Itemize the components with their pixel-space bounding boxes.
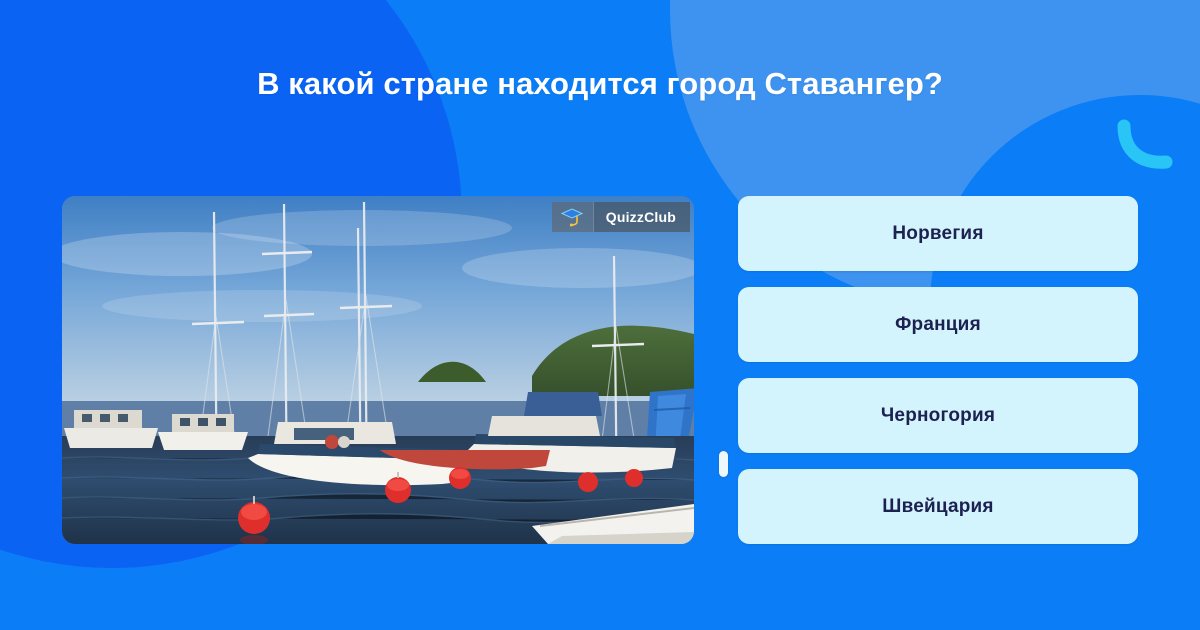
quizzclub-watermark: QuizzClub xyxy=(552,202,690,232)
question-image-card: QuizzClub xyxy=(62,196,694,544)
answer-options-list: Норвегия Франция Черногория Швейцария xyxy=(730,196,1138,544)
cyan-arc-icon xyxy=(1114,118,1176,174)
answer-option-1-label: Норвегия xyxy=(892,223,983,245)
harbor-photo xyxy=(62,196,694,544)
answer-option-3[interactable]: Черногория xyxy=(738,378,1138,453)
question-title-bar: В какой стране находится город Ставангер… xyxy=(0,66,1200,103)
quiz-content: QuizzClub Норвегия Франция Черногория Шв… xyxy=(62,196,1138,544)
scrollbar-thumb[interactable] xyxy=(719,451,728,477)
answer-option-4[interactable]: Швейцария xyxy=(738,469,1138,544)
page-title: В какой стране находится город Ставангер… xyxy=(257,66,943,103)
answer-option-3-label: Черногория xyxy=(881,405,995,427)
answer-option-1[interactable]: Норвегия xyxy=(738,196,1138,271)
watermark-label: QuizzClub xyxy=(594,202,690,232)
graduation-cap-icon xyxy=(552,202,594,232)
answer-option-4-label: Швейцария xyxy=(882,496,993,518)
answer-option-2[interactable]: Франция xyxy=(738,287,1138,362)
answer-option-2-label: Франция xyxy=(895,314,981,336)
